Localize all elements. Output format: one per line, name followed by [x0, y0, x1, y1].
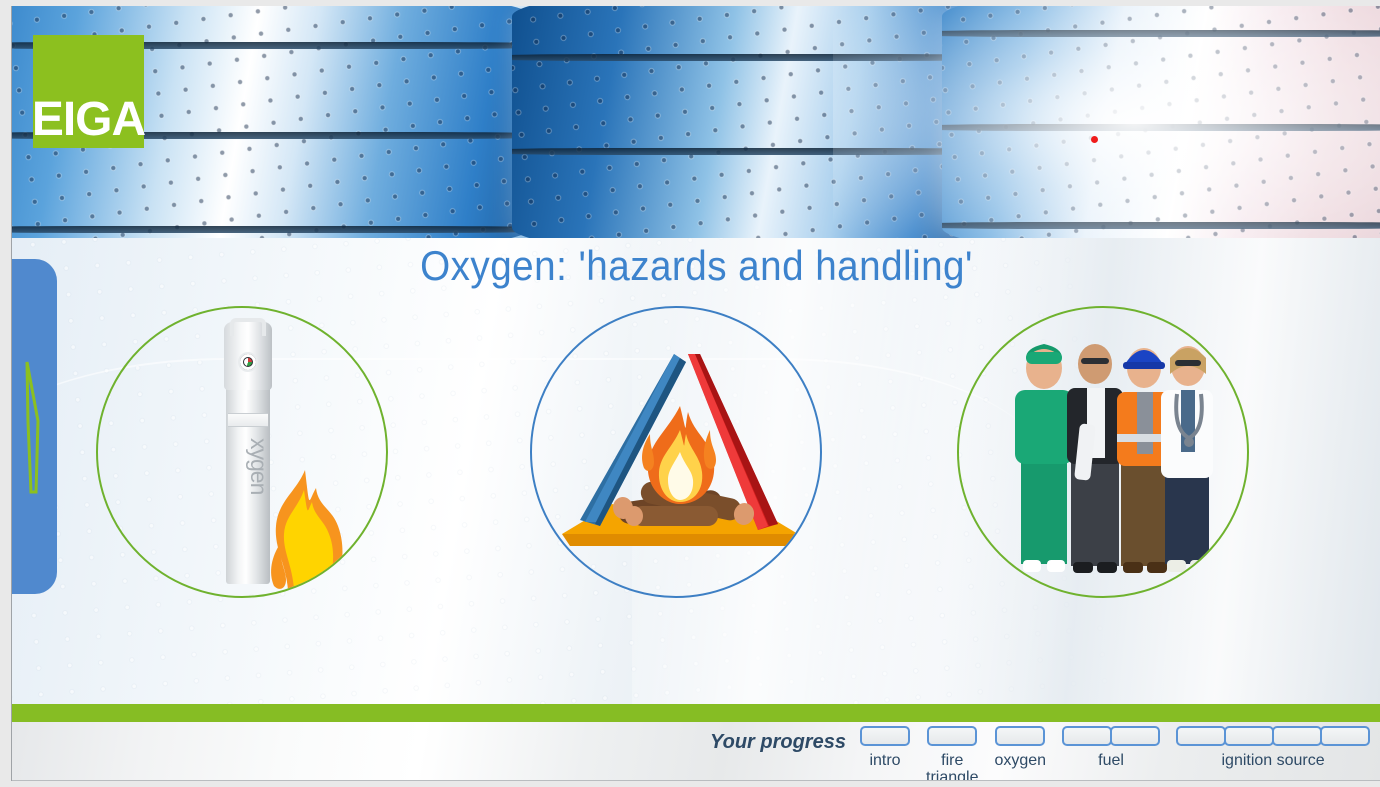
- progress-group: fire triangle: [926, 722, 978, 781]
- progress-step-box[interactable]: [1272, 726, 1322, 746]
- progress-group-label: intro: [869, 752, 900, 769]
- menu-pull-tab[interactable]: [12, 259, 57, 594]
- progress-step-box[interactable]: [1320, 726, 1370, 746]
- slide-canvas: EIGA Oxygen: 'hazards and handling': [11, 6, 1380, 781]
- steel-tank-middle: [512, 6, 982, 238]
- progress-step-box[interactable]: [1224, 726, 1274, 746]
- progress-step-box[interactable]: [927, 726, 977, 746]
- progress-group: fuel: [1062, 722, 1160, 769]
- footer-hairline: [12, 780, 1380, 781]
- tank-hoop: [12, 226, 532, 233]
- person-businessman: [1067, 344, 1123, 573]
- section-divider: [12, 704, 1380, 722]
- progress-step-box[interactable]: [995, 726, 1045, 746]
- progress-step-boxes: [1062, 726, 1160, 746]
- slide-content-area: Oxygen: 'hazards and handling' xygen: [12, 238, 1380, 704]
- tank-hoop: [942, 222, 1380, 229]
- eiga-logo[interactable]: EIGA: [33, 35, 144, 148]
- flame-icon: [258, 468, 348, 593]
- progress-step-box[interactable]: [860, 726, 910, 746]
- progress-group-label: fuel: [1098, 752, 1124, 769]
- pressure-gauge-icon: [238, 352, 258, 372]
- progress-group: oxygen: [994, 722, 1046, 769]
- progress-step-boxes: [860, 726, 910, 746]
- progress-group: ignition source: [1176, 722, 1370, 769]
- progress-group-label: ignition source: [1221, 752, 1324, 769]
- progress-step-box[interactable]: [1110, 726, 1160, 746]
- topic-circle-cylinder-fire[interactable]: xygen: [96, 306, 388, 598]
- progress-step-boxes: [1176, 726, 1370, 746]
- header-banner-image: EIGA: [12, 6, 1380, 238]
- steel-tank-right: [942, 6, 1380, 238]
- eiga-logo-text: EIGA: [32, 96, 145, 144]
- perforation-pattern: [942, 6, 1380, 238]
- oxygen-cylinder-handle: [230, 318, 266, 336]
- progress-group-label: fire triangle: [926, 752, 978, 781]
- topic-circle-fire-triangle[interactable]: [530, 306, 822, 598]
- group-of-people-illustration: [993, 328, 1223, 596]
- progress-group-label: oxygen: [994, 752, 1046, 769]
- person-doctor: [1161, 346, 1213, 572]
- perforation-pattern: [512, 6, 982, 238]
- progress-step-groups: introfire triangleoxygenfuelignition sou…: [860, 722, 1370, 781]
- footer-progress-bar: Your progress introfire triangleoxygenfu…: [12, 722, 1380, 781]
- page-title: Oxygen: 'hazards and handling': [67, 242, 1326, 290]
- fire-triangle-icon: [552, 338, 804, 570]
- person-nurse: [1015, 344, 1073, 572]
- chevron-right-icon: [25, 359, 41, 495]
- progress-label: Your progress: [710, 731, 846, 754]
- progress-step-box[interactable]: [1062, 726, 1112, 746]
- progress-step-box[interactable]: [1176, 726, 1226, 746]
- progress-step-boxes: [927, 726, 977, 746]
- tank-hoop: [512, 54, 982, 61]
- tank-hoop: [942, 30, 1380, 37]
- tank-hoop: [942, 124, 1380, 131]
- slide-viewer: EIGA Oxygen: 'hazards and handling': [0, 0, 1380, 787]
- topic-circle-people[interactable]: [957, 306, 1249, 598]
- progress-step-boxes: [995, 726, 1045, 746]
- cursor-dot-marker: [1091, 136, 1098, 143]
- progress-group: intro: [860, 722, 910, 769]
- cylinder-label-band: [228, 413, 268, 427]
- tank-hoop: [512, 148, 982, 155]
